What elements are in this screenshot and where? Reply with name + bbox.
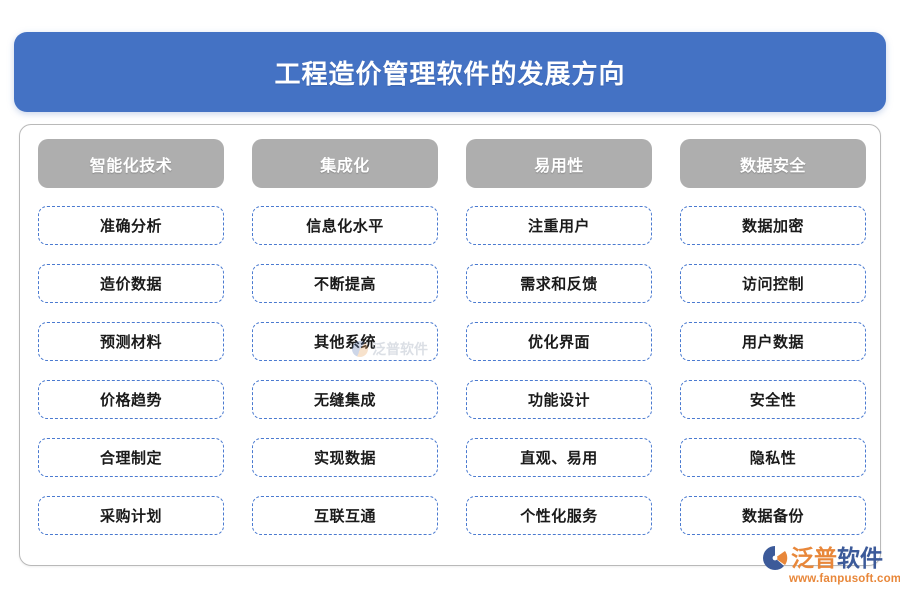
list-item-label: 信息化水平 — [306, 215, 384, 236]
brand-url: www.fanpusoft.com — [789, 573, 892, 585]
list-item[interactable]: 注重用户 — [466, 206, 652, 245]
list-item-label: 访问控制 — [742, 273, 804, 294]
list-item-label: 互联互通 — [314, 505, 376, 526]
list-item[interactable]: 安全性 — [680, 380, 866, 419]
column-header-label: 易用性 — [534, 152, 584, 176]
fanpu-swoosh-icon — [762, 545, 788, 571]
list-item[interactable]: 直观、易用 — [466, 438, 652, 477]
list-item[interactable]: 功能设计 — [466, 380, 652, 419]
brand-logo-row: 泛普软件 — [762, 545, 892, 571]
list-item-label: 造价数据 — [100, 273, 162, 294]
column-integration: 集成化 信息化水平 不断提高 其他系统 无缝集成 实现数据 互联互通 — [252, 139, 438, 535]
list-item-label: 需求和反馈 — [520, 273, 598, 294]
column-header-4: 数据安全 — [680, 139, 866, 188]
column-header-label: 集成化 — [320, 152, 370, 176]
list-item[interactable]: 价格趋势 — [38, 380, 224, 419]
list-item-label: 用户数据 — [742, 331, 804, 352]
list-item[interactable]: 采购计划 — [38, 496, 224, 535]
list-item[interactable]: 准确分析 — [38, 206, 224, 245]
list-item-label: 注重用户 — [528, 215, 590, 236]
list-item[interactable]: 预测材料 — [38, 322, 224, 361]
title-banner: 工程造价管理软件的发展方向 — [14, 32, 886, 112]
list-item-label: 优化界面 — [528, 331, 590, 352]
column-header-3: 易用性 — [466, 139, 652, 188]
column-header-label: 数据安全 — [740, 152, 806, 176]
list-item[interactable]: 优化界面 — [466, 322, 652, 361]
list-item[interactable]: 互联互通 — [252, 496, 438, 535]
list-item-label: 无缝集成 — [314, 389, 376, 410]
list-item-label: 预测材料 — [100, 331, 162, 352]
columns-container: 智能化技术 准确分析 造价数据 预测材料 价格趋势 合理制定 采购计划 集成化 … — [38, 139, 866, 535]
list-item-label: 个性化服务 — [520, 505, 598, 526]
list-item[interactable]: 数据加密 — [680, 206, 866, 245]
list-item[interactable]: 用户数据 — [680, 322, 866, 361]
list-item-label: 不断提高 — [314, 273, 376, 294]
list-item-label: 价格趋势 — [100, 389, 162, 410]
list-item[interactable]: 个性化服务 — [466, 496, 652, 535]
list-item[interactable]: 信息化水平 — [252, 206, 438, 245]
column-data-security: 数据安全 数据加密 访问控制 用户数据 安全性 隐私性 数据备份 — [680, 139, 866, 535]
slide-canvas: 工程造价管理软件的发展方向 智能化技术 准确分析 造价数据 预测材料 价格趋势 … — [0, 0, 900, 600]
list-item-label: 其他系统 — [314, 331, 376, 352]
list-item-label: 数据备份 — [742, 505, 804, 526]
column-usability: 易用性 注重用户 需求和反馈 优化界面 功能设计 直观、易用 个性化服务 — [466, 139, 652, 535]
list-item[interactable]: 需求和反馈 — [466, 264, 652, 303]
list-item[interactable]: 实现数据 — [252, 438, 438, 477]
list-item[interactable]: 合理制定 — [38, 438, 224, 477]
list-item-label: 合理制定 — [100, 447, 162, 468]
brand-name: 泛普软件 — [791, 547, 883, 570]
list-item-label: 隐私性 — [750, 447, 797, 468]
column-intelligent-technology: 智能化技术 准确分析 造价数据 预测材料 价格趋势 合理制定 采购计划 — [38, 139, 224, 535]
list-item[interactable]: 隐私性 — [680, 438, 866, 477]
page-title: 工程造价管理软件的发展方向 — [274, 54, 625, 91]
list-item-label: 采购计划 — [100, 505, 162, 526]
list-item-label: 安全性 — [750, 389, 797, 410]
list-item[interactable]: 其他系统 — [252, 322, 438, 361]
list-item-label: 准确分析 — [100, 215, 162, 236]
column-header-1: 智能化技术 — [38, 139, 224, 188]
list-item[interactable]: 不断提高 — [252, 264, 438, 303]
list-item[interactable]: 数据备份 — [680, 496, 866, 535]
brand-name-part2: 软件 — [837, 545, 883, 571]
brand-name-part1: 泛普 — [791, 545, 837, 571]
column-header-label: 智能化技术 — [90, 152, 173, 176]
list-item-label: 数据加密 — [742, 215, 804, 236]
brand-logo: 泛普软件 www.fanpusoft.com — [762, 545, 892, 593]
list-item[interactable]: 无缝集成 — [252, 380, 438, 419]
list-item-label: 实现数据 — [314, 447, 376, 468]
list-item-label: 功能设计 — [528, 389, 590, 410]
list-item-label: 直观、易用 — [520, 447, 598, 468]
list-item[interactable]: 访问控制 — [680, 264, 866, 303]
column-header-2: 集成化 — [252, 139, 438, 188]
list-item[interactable]: 造价数据 — [38, 264, 224, 303]
